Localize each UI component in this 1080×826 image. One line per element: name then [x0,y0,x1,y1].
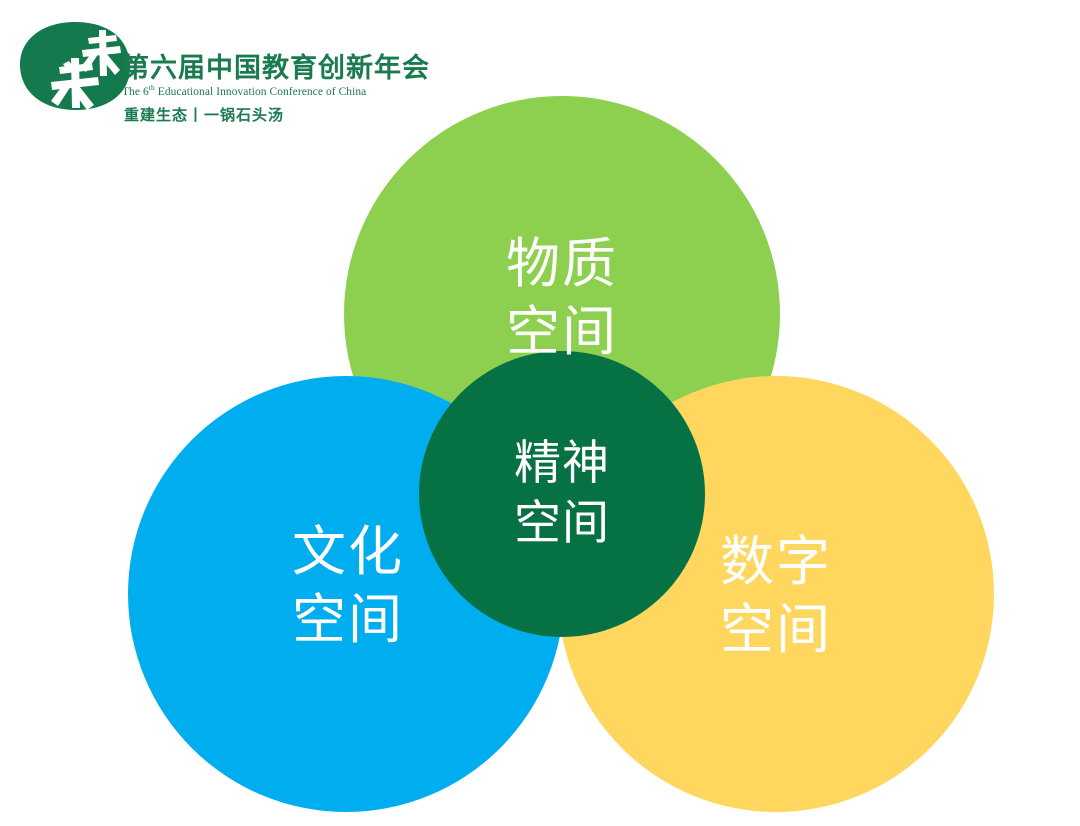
venn-label-digital-space: 数字 空间 [676,528,876,664]
venn-label-spiritual-space: 精神 空间 [472,434,652,554]
venn-label-cultural-line2: 空间 [248,586,448,654]
venn-label-material-space: 物质 空间 [462,230,662,366]
venn-label-digital-line1: 数字 [676,528,876,596]
venn-label-material-line1: 物质 [462,230,662,298]
venn-label-spiritual-line2: 空间 [472,494,652,554]
four-space-venn-diagram: 物质 空间 文化 空间 数字 空间 精神 空间 [0,0,1080,826]
venn-label-cultural-line1: 文化 [248,518,448,586]
venn-label-spiritual-line1: 精神 [472,434,652,494]
venn-label-digital-line2: 空间 [676,596,876,664]
venn-label-cultural-space: 文化 空间 [248,518,448,654]
venn-label-material-line2: 空间 [462,298,662,366]
slide-canvas: 第六届中国教育创新年会 The 6th Educational Innovati… [0,0,1080,826]
